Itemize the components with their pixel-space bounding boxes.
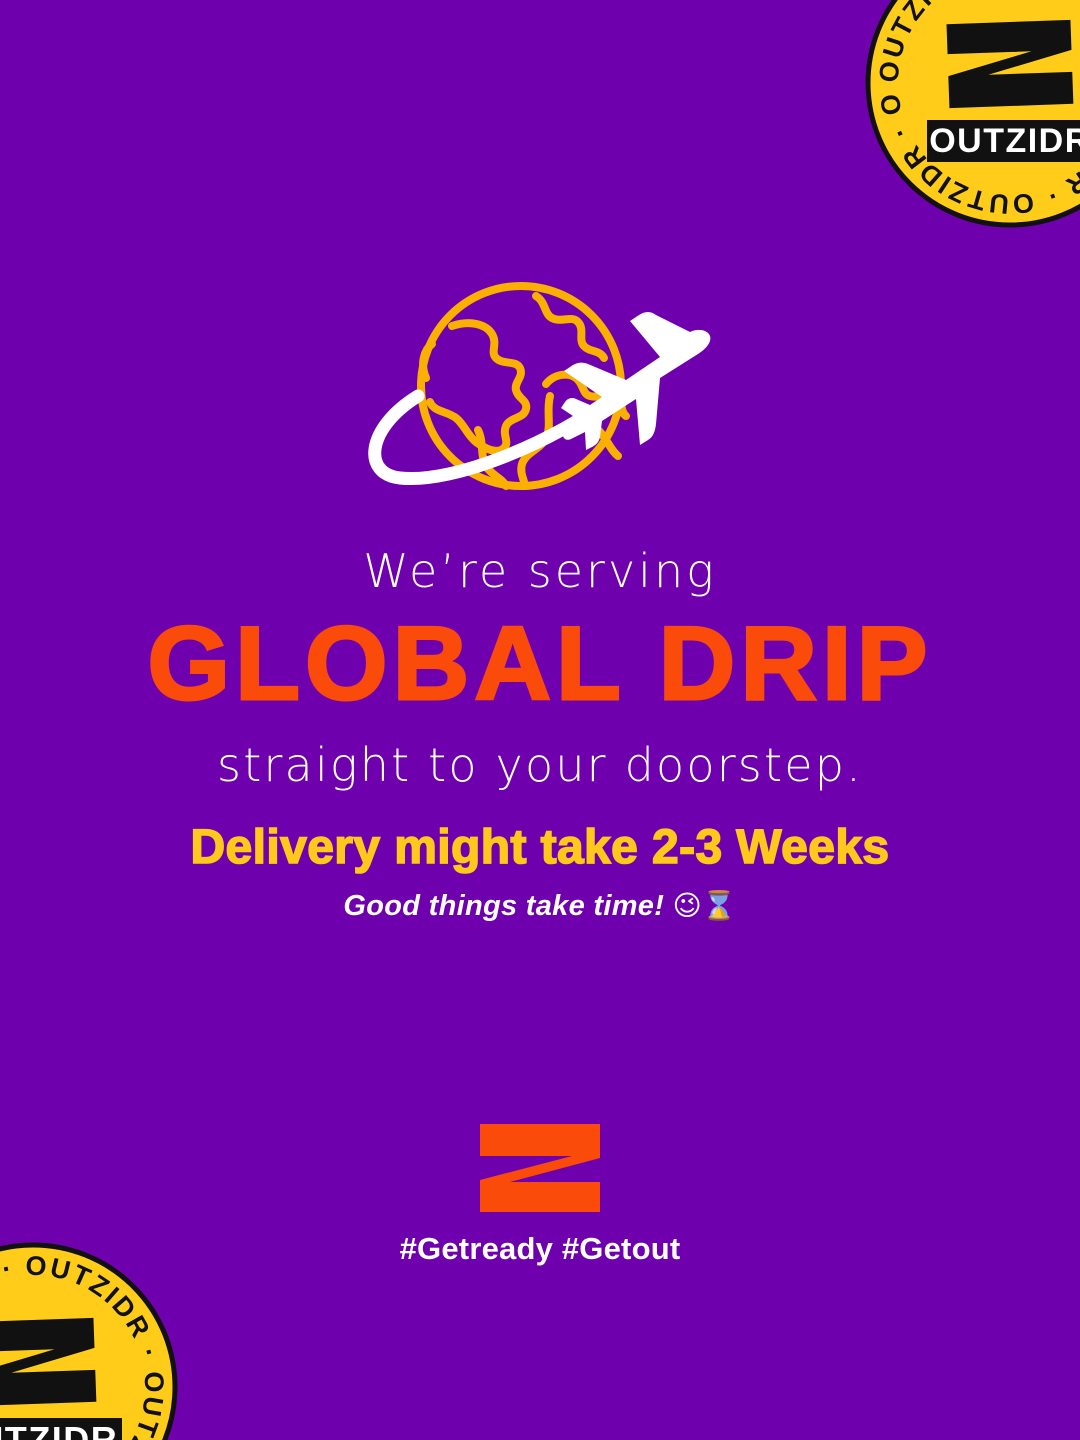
subheadline-text: straight to your doorstep. bbox=[0, 742, 1080, 788]
page-title: GLOBAL DRIP bbox=[0, 612, 1080, 716]
delivery-subtext: Good things take time! 😉⌛ bbox=[0, 891, 1080, 923]
promo-poster: We’re serving GLOBAL DRIP straight to yo… bbox=[0, 0, 1080, 1440]
svg-text:OUTZIDR: OUTZIDR bbox=[0, 1419, 118, 1440]
outzidr-z-logo-icon bbox=[476, 1122, 604, 1214]
svg-text:OUTZIDR: OUTZIDR bbox=[929, 122, 1080, 160]
badge-wordmark: OUTZIDR bbox=[927, 120, 1080, 162]
badge-wordmark: OUTZIDR bbox=[0, 1418, 122, 1440]
outzidr-sticker-bottom-left: OUTZIDR · OUTZIDR · OUTZIDR · OUTZIDR · … bbox=[0, 1242, 178, 1440]
outzidr-sticker-top-right: OUTZIDR · OUTZIDR · OUTZIDR · OUTZIDR · … bbox=[865, 0, 1080, 228]
headline-block: We’re serving GLOBAL DRIP straight to yo… bbox=[0, 548, 1080, 788]
eyebrow-text: We’re serving bbox=[0, 548, 1080, 594]
globe-with-airplane-icon bbox=[360, 278, 720, 510]
delivery-subtext-label: Good things take time! bbox=[343, 890, 664, 922]
delivery-time-text: Delivery might take 2-3 Weeks bbox=[0, 823, 1080, 873]
wink-hourglass-emoji: 😉⌛ bbox=[673, 889, 737, 922]
delivery-notice: Delivery might take 2-3 Weeks Good thing… bbox=[0, 823, 1080, 923]
